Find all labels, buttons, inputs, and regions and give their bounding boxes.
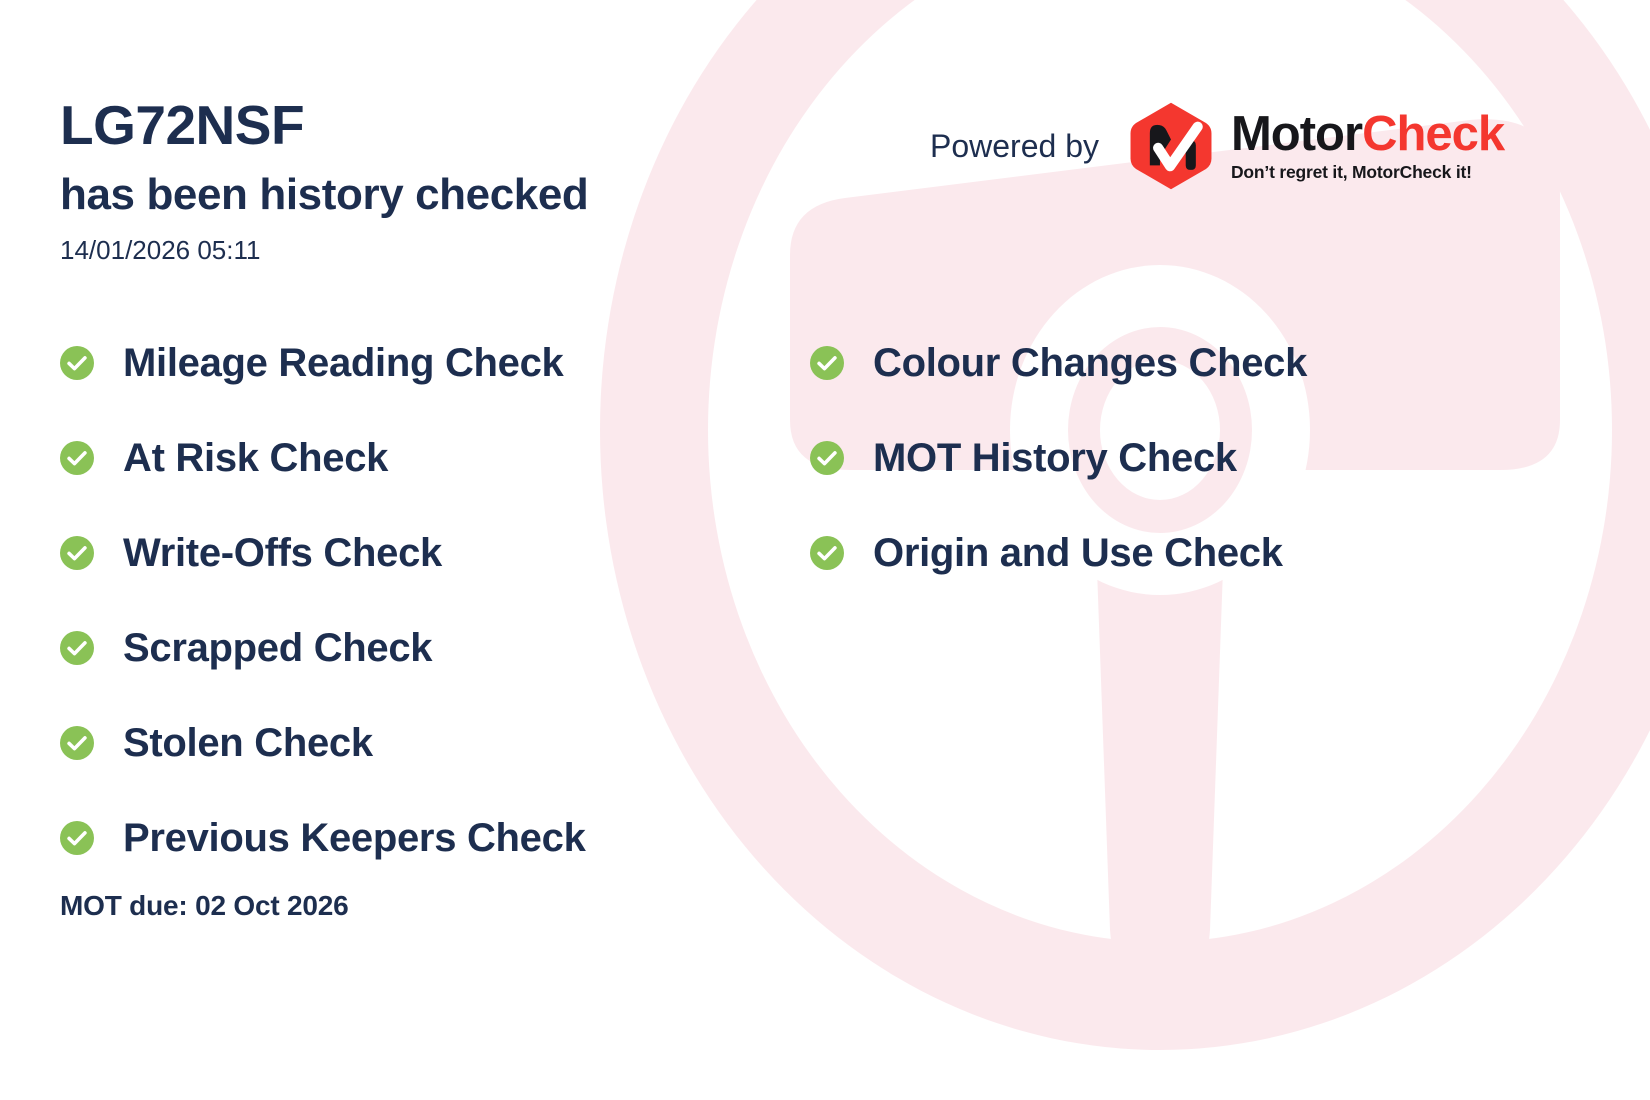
check-circle-icon	[60, 631, 94, 665]
motorcheck-logo[interactable]: MotorCheck Don’t regret it, MotorCheck i…	[1125, 100, 1504, 192]
check-item-label: Colour Changes Check	[873, 343, 1307, 383]
wordmark-motor: Motor	[1231, 107, 1362, 161]
check-item-label: Previous Keepers Check	[123, 818, 586, 858]
checks-list-left: Mileage Reading Check At Risk Check Writ…	[60, 315, 586, 885]
motorcheck-wordmark: MotorCheck	[1231, 110, 1504, 159]
check-item-label: Mileage Reading Check	[123, 343, 564, 383]
check-item: Scrapped Check	[60, 600, 586, 695]
check-item-label: MOT History Check	[873, 438, 1237, 478]
check-item: Origin and Use Check	[810, 505, 1307, 600]
check-item-label: Write-Offs Check	[123, 533, 442, 573]
wordmark-check: Check	[1362, 107, 1504, 161]
check-item: Mileage Reading Check	[60, 315, 586, 410]
check-circle-icon	[60, 821, 94, 855]
powered-by-block: Powered by MotorCheck Don’t regret it, M…	[930, 100, 1504, 192]
check-circle-icon	[60, 441, 94, 475]
check-circle-icon	[810, 346, 844, 380]
check-circle-icon	[60, 346, 94, 380]
check-item-label: Stolen Check	[123, 723, 373, 763]
check-item: Previous Keepers Check	[60, 790, 586, 885]
check-timestamp: 14/01/2026 05:11	[60, 237, 260, 263]
page-subtitle: has been history checked	[60, 173, 588, 217]
motorcheck-tagline: Don’t regret it, MotorCheck it!	[1231, 164, 1504, 182]
check-circle-icon	[810, 536, 844, 570]
check-circle-icon	[810, 441, 844, 475]
check-item: MOT History Check	[810, 410, 1307, 505]
check-item: Stolen Check	[60, 695, 586, 790]
mot-due-text: MOT due: 02 Oct 2026	[60, 890, 349, 922]
check-circle-icon	[60, 536, 94, 570]
powered-by-label: Powered by	[930, 128, 1099, 165]
check-item: At Risk Check	[60, 410, 586, 505]
check-item: Colour Changes Check	[810, 315, 1307, 410]
check-item-label: Scrapped Check	[123, 628, 432, 668]
check-circle-icon	[60, 726, 94, 760]
motorcheck-hexagon-logo-icon	[1125, 100, 1217, 192]
checks-list-right: Colour Changes Check MOT History Check O…	[810, 315, 1307, 600]
check-item: Write-Offs Check	[60, 505, 586, 600]
history-check-banner: LG72NSF has been history checked 14/01/2…	[0, 0, 1650, 1100]
check-item-label: At Risk Check	[123, 438, 388, 478]
motorcheck-wordmark-block: MotorCheck Don’t regret it, MotorCheck i…	[1231, 110, 1504, 182]
vehicle-registration-title: LG72NSF	[60, 98, 304, 153]
check-item-label: Origin and Use Check	[873, 533, 1283, 573]
